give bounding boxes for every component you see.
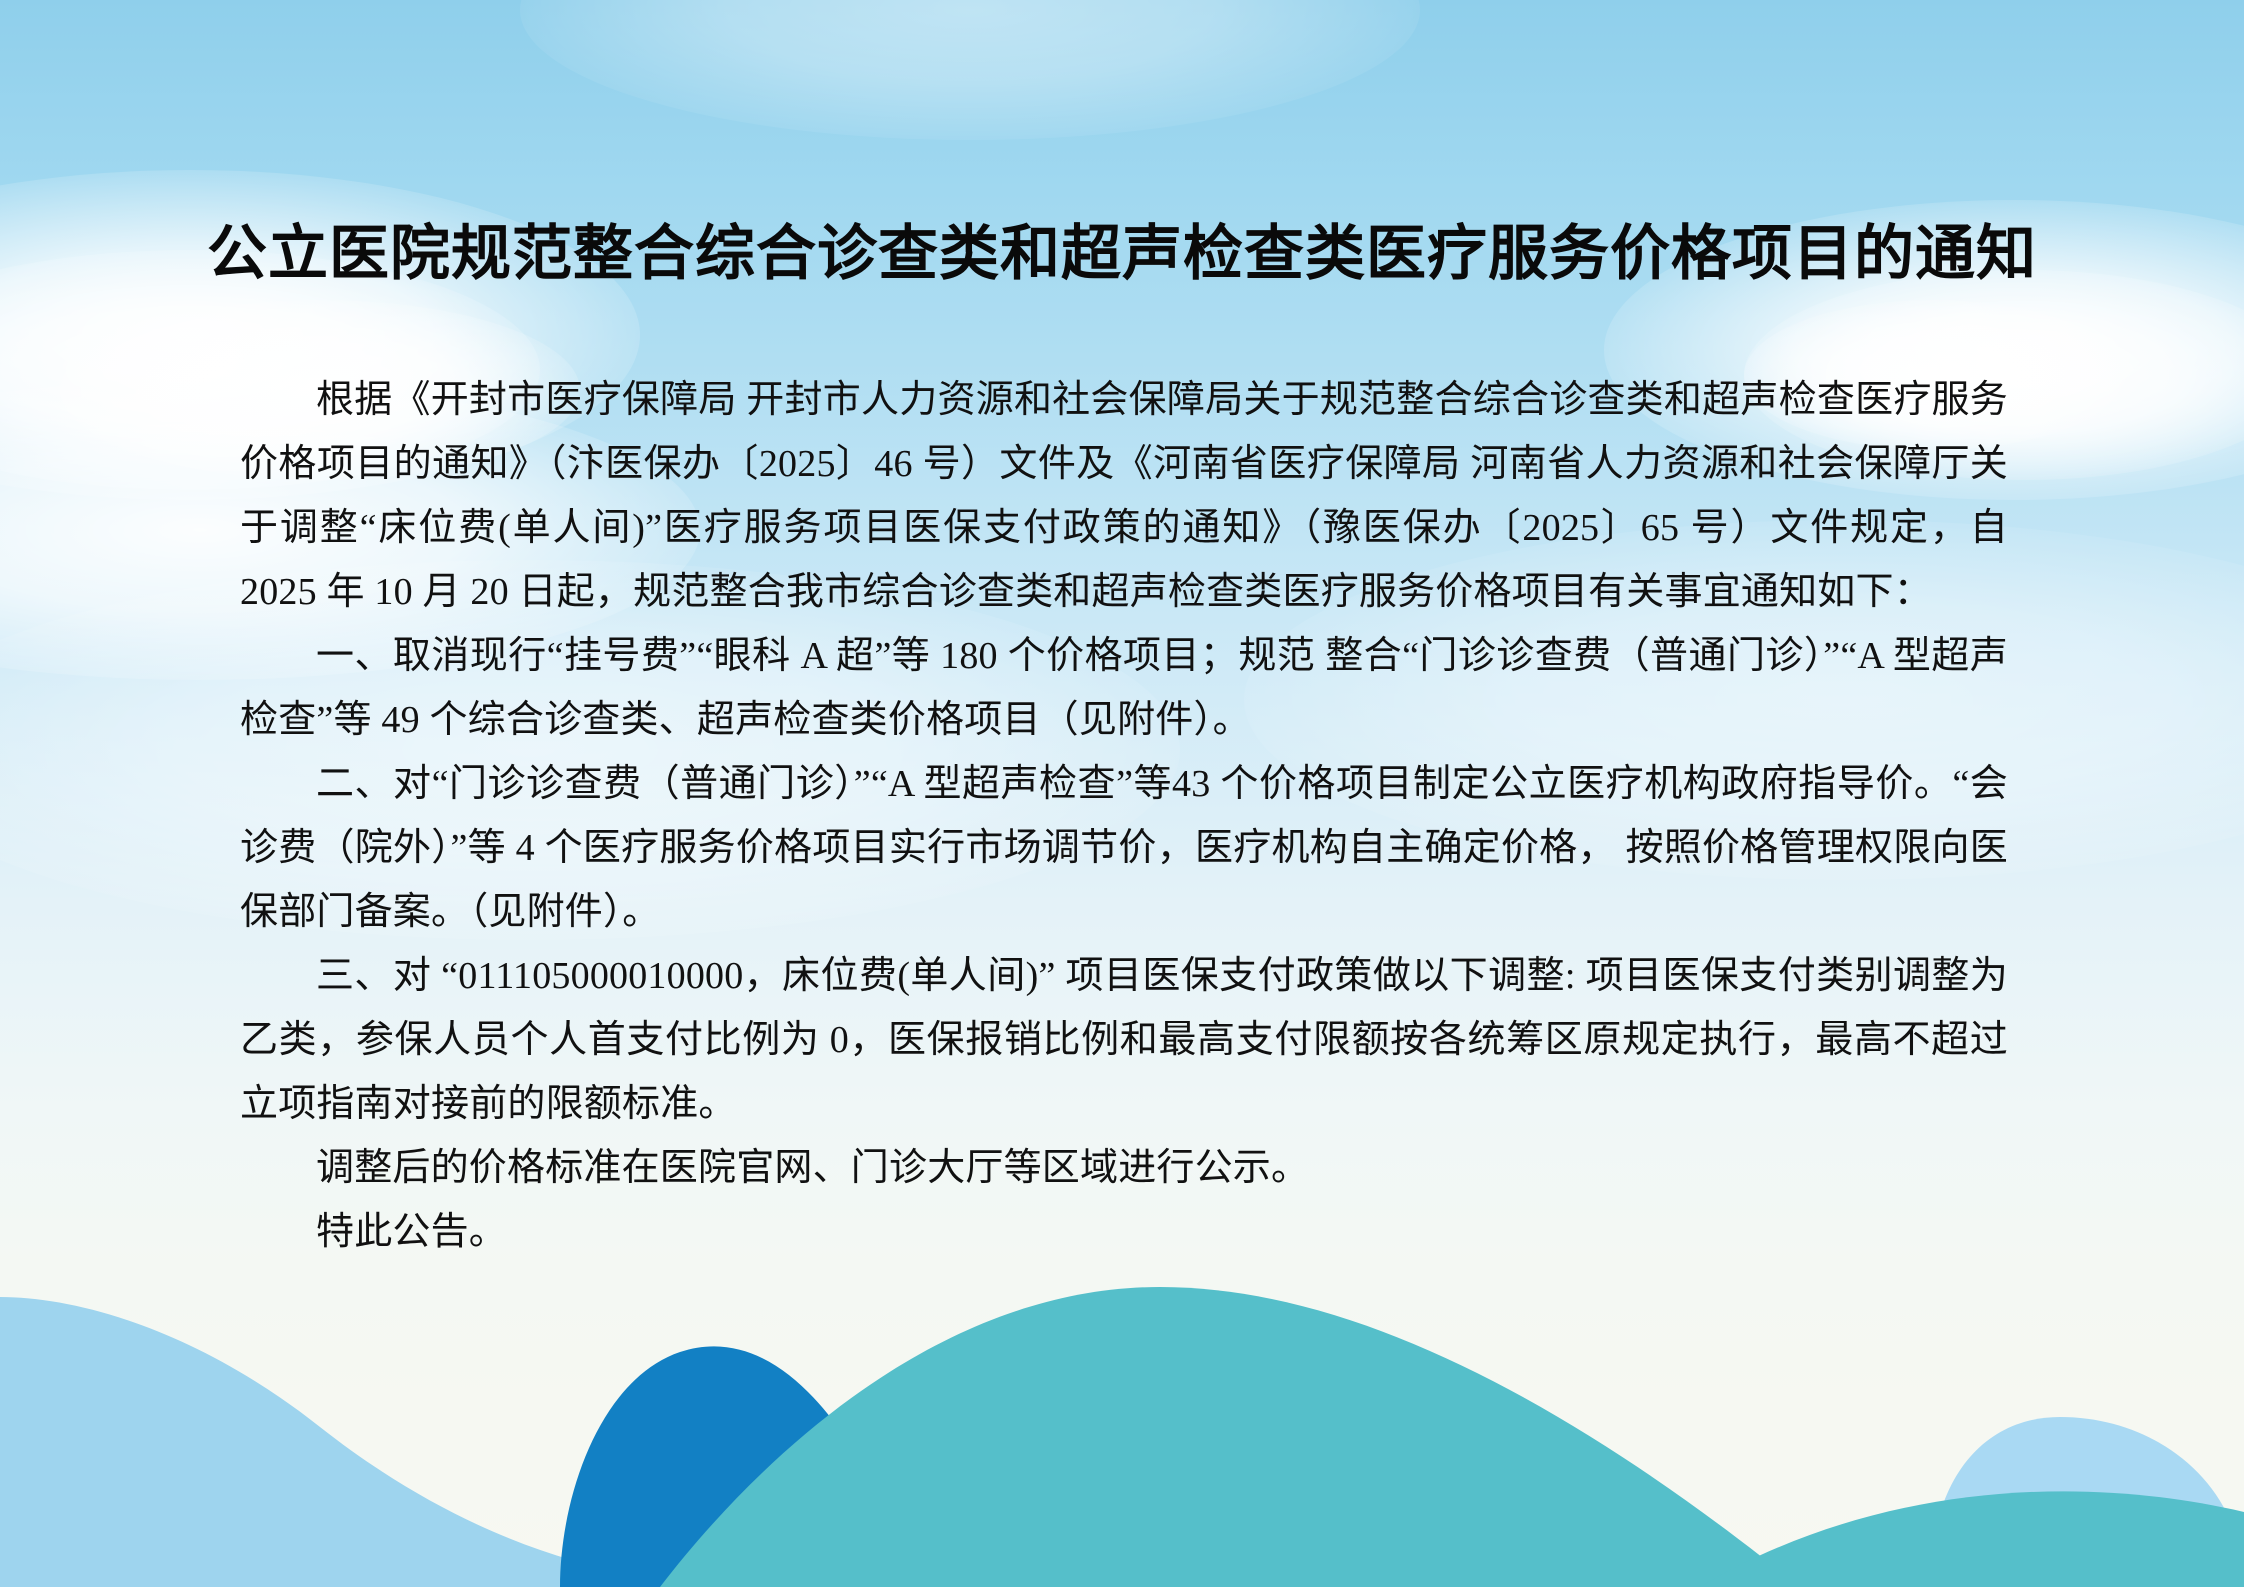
paragraph-publication: 调整后的价格标准在医院官网、门诊大厅等区域进行公示。	[240, 1136, 2008, 1200]
paragraph-intro: 根据《开封市医疗保障局 开封市人力资源和社会保障局关于规范整合综合诊查类和超声检…	[240, 368, 2008, 624]
paragraph-closing: 特此公告。	[240, 1200, 2008, 1264]
hill-teal	[660, 1287, 1800, 1587]
cloud-decoration	[520, 0, 1420, 140]
paragraph-item-two: 二、对“门诊诊查费（普通门诊）”“A 型超声检查”等43 个价格项目制定公立医疗…	[240, 752, 2008, 944]
slide-canvas: 公立医院规范整合综合诊查类和超声检查类医疗服务价格项目的通知 根据《开封市医疗保…	[0, 0, 2244, 1587]
hill-dark-blue	[560, 1346, 930, 1587]
document-body: 根据《开封市医疗保障局 开封市人力资源和社会保障局关于规范整合综合诊查类和超声检…	[240, 368, 2008, 1264]
hill-pale-blue	[1930, 1417, 2244, 1587]
hill-light-blue-left	[0, 1297, 760, 1587]
paragraph-item-three: 三、对 “011105000010000，床位费(单人间)” 项目医保支付政策做…	[240, 944, 2008, 1136]
paragraph-item-one: 一、取消现行“挂号费”“眼科 A 超”等 180 个价格项目；规范 整合“门诊诊…	[240, 624, 2008, 752]
page-title: 公立医院规范整合综合诊查类和超声检查类医疗服务价格项目的通知	[0, 205, 2244, 292]
hill-teal-right	[1700, 1491, 2244, 1587]
